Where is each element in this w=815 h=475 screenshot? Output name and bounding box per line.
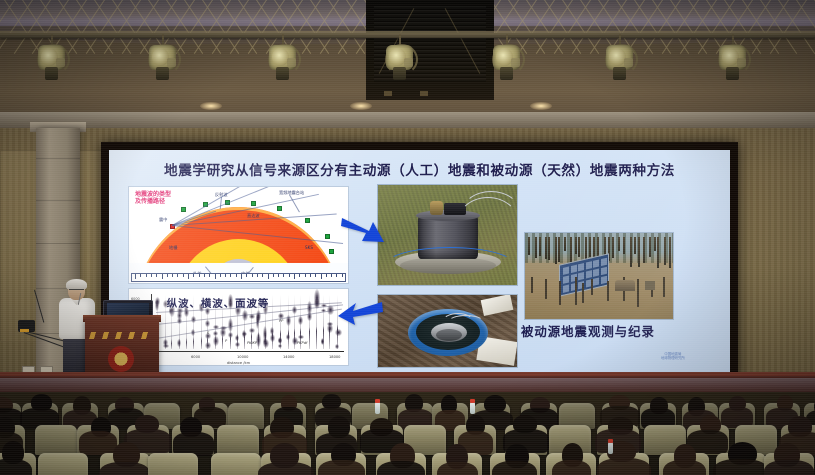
seismic-station-7 <box>325 234 330 239</box>
audience-shoulders <box>597 458 652 475</box>
presenter-glasses <box>69 289 84 293</box>
audience-shoulders <box>663 460 706 475</box>
label-sks-phase: SKS <box>305 245 313 250</box>
audience-shoulders <box>258 462 314 475</box>
projection-screen-frame: 地震学研究从信号来源区分有主动源（人工）地震和被动源（天然）地震两种方法 地震波… <box>101 142 738 380</box>
audience-shoulders <box>492 461 537 475</box>
photo-solar-station <box>524 232 674 320</box>
phase-label-PKiKP: PKiKP <box>247 341 257 345</box>
seismic-station-6 <box>305 218 310 223</box>
audience-shoulders <box>377 461 425 475</box>
audience-area <box>0 392 815 475</box>
stage-light-2 <box>148 36 178 84</box>
phase-label-PP: PP <box>279 319 283 323</box>
label-epicenter: 震中 <box>159 217 167 223</box>
stage-light-7 <box>718 36 748 84</box>
diagram-scale-bar <box>131 273 346 282</box>
arrow-to-seismometer <box>341 212 385 248</box>
water-bottle-1 <box>375 402 380 414</box>
downlight-1 <box>200 102 222 110</box>
stage-light-5 <box>492 36 522 84</box>
seismogram-xtick-3: 14000 <box>283 355 294 359</box>
slide-caption: 被动源地震观测与纪录 <box>521 322 721 340</box>
seismogram-caption: 纵波、横波、面波等 <box>143 295 293 310</box>
photo-seismometer-vault <box>377 184 518 286</box>
audience-shoulders <box>437 462 478 475</box>
audience-seat <box>38 453 88 475</box>
audience-seat <box>35 425 77 455</box>
stage-light-1 <box>37 36 67 84</box>
arrow-to-seismogram <box>337 300 383 330</box>
downlight-2 <box>350 102 372 110</box>
slide-title: 地震学研究从信号来源区分有主动源（人工）地震和被动源（天然）地震两种方法 <box>109 159 730 179</box>
downlight-3 <box>530 102 552 110</box>
label-mantle: 地幔 <box>169 245 177 251</box>
audience-shoulders <box>79 431 117 455</box>
audience-shoulders <box>99 462 149 475</box>
water-bottle-3 <box>608 442 613 454</box>
photo-sensor-pit <box>377 294 518 368</box>
phase-label-P: P <box>225 339 227 343</box>
ceiling <box>0 0 815 118</box>
stage-edge <box>0 372 815 376</box>
projection-screen: 地震学研究从信号来源区分有主动源（人工）地震和被动源（天然）地震两种方法 地震波… <box>109 150 730 372</box>
audience-shoulders <box>764 460 813 475</box>
water-bottle-2 <box>470 402 475 414</box>
seismogram-record-section: 纵波、横波、面波等 time /s 2000600010000140001800… <box>128 288 349 366</box>
slide-logo: 中国地震局 地球物理研究所 <box>661 352 685 361</box>
stage-light-6 <box>605 36 635 84</box>
phase-label-S: S <box>207 331 209 335</box>
wall-soffit <box>0 112 815 128</box>
audience-shoulders <box>552 460 592 475</box>
podium-control-strip <box>89 332 153 339</box>
audience-shoulders <box>0 459 32 475</box>
label-broadband-station: 宽频地震台站 <box>279 190 304 196</box>
seismogram-xtick-1: 6000 <box>191 355 200 359</box>
earth-cross-section-diagram: 地震波的类型 及传播路径 反射波 宽频地震台站 直达波 震中 地幔 外核 内核 … <box>128 186 349 284</box>
audience-seat <box>217 425 259 455</box>
stage-light-4 <box>385 36 415 84</box>
seismic-station-5 <box>277 206 282 211</box>
seismogram-xtick-4: 18000 <box>329 355 340 359</box>
phase-label-PKPdf: PKPdf <box>297 341 307 345</box>
audience-seat <box>148 453 198 475</box>
podium-emblem <box>108 346 134 372</box>
audience-shoulders <box>318 460 365 475</box>
stage-light-3 <box>268 36 298 84</box>
conference-photo: 地震学研究从信号来源区分有主动源（人工）地震和被动源（天然）地震两种方法 地震波… <box>0 0 815 475</box>
seismogram-xlabel: distance /km <box>129 361 348 365</box>
audience-shoulders <box>713 459 768 475</box>
audience-seat <box>211 453 261 475</box>
seismic-station-8 <box>329 249 334 254</box>
seismic-station-1 <box>181 207 186 212</box>
earth-diagram-heading: 地震波的类型 及传播路径 <box>135 191 171 206</box>
seismogram-xtick-2: 10000 <box>237 355 248 359</box>
seismic-station-4 <box>251 201 256 206</box>
